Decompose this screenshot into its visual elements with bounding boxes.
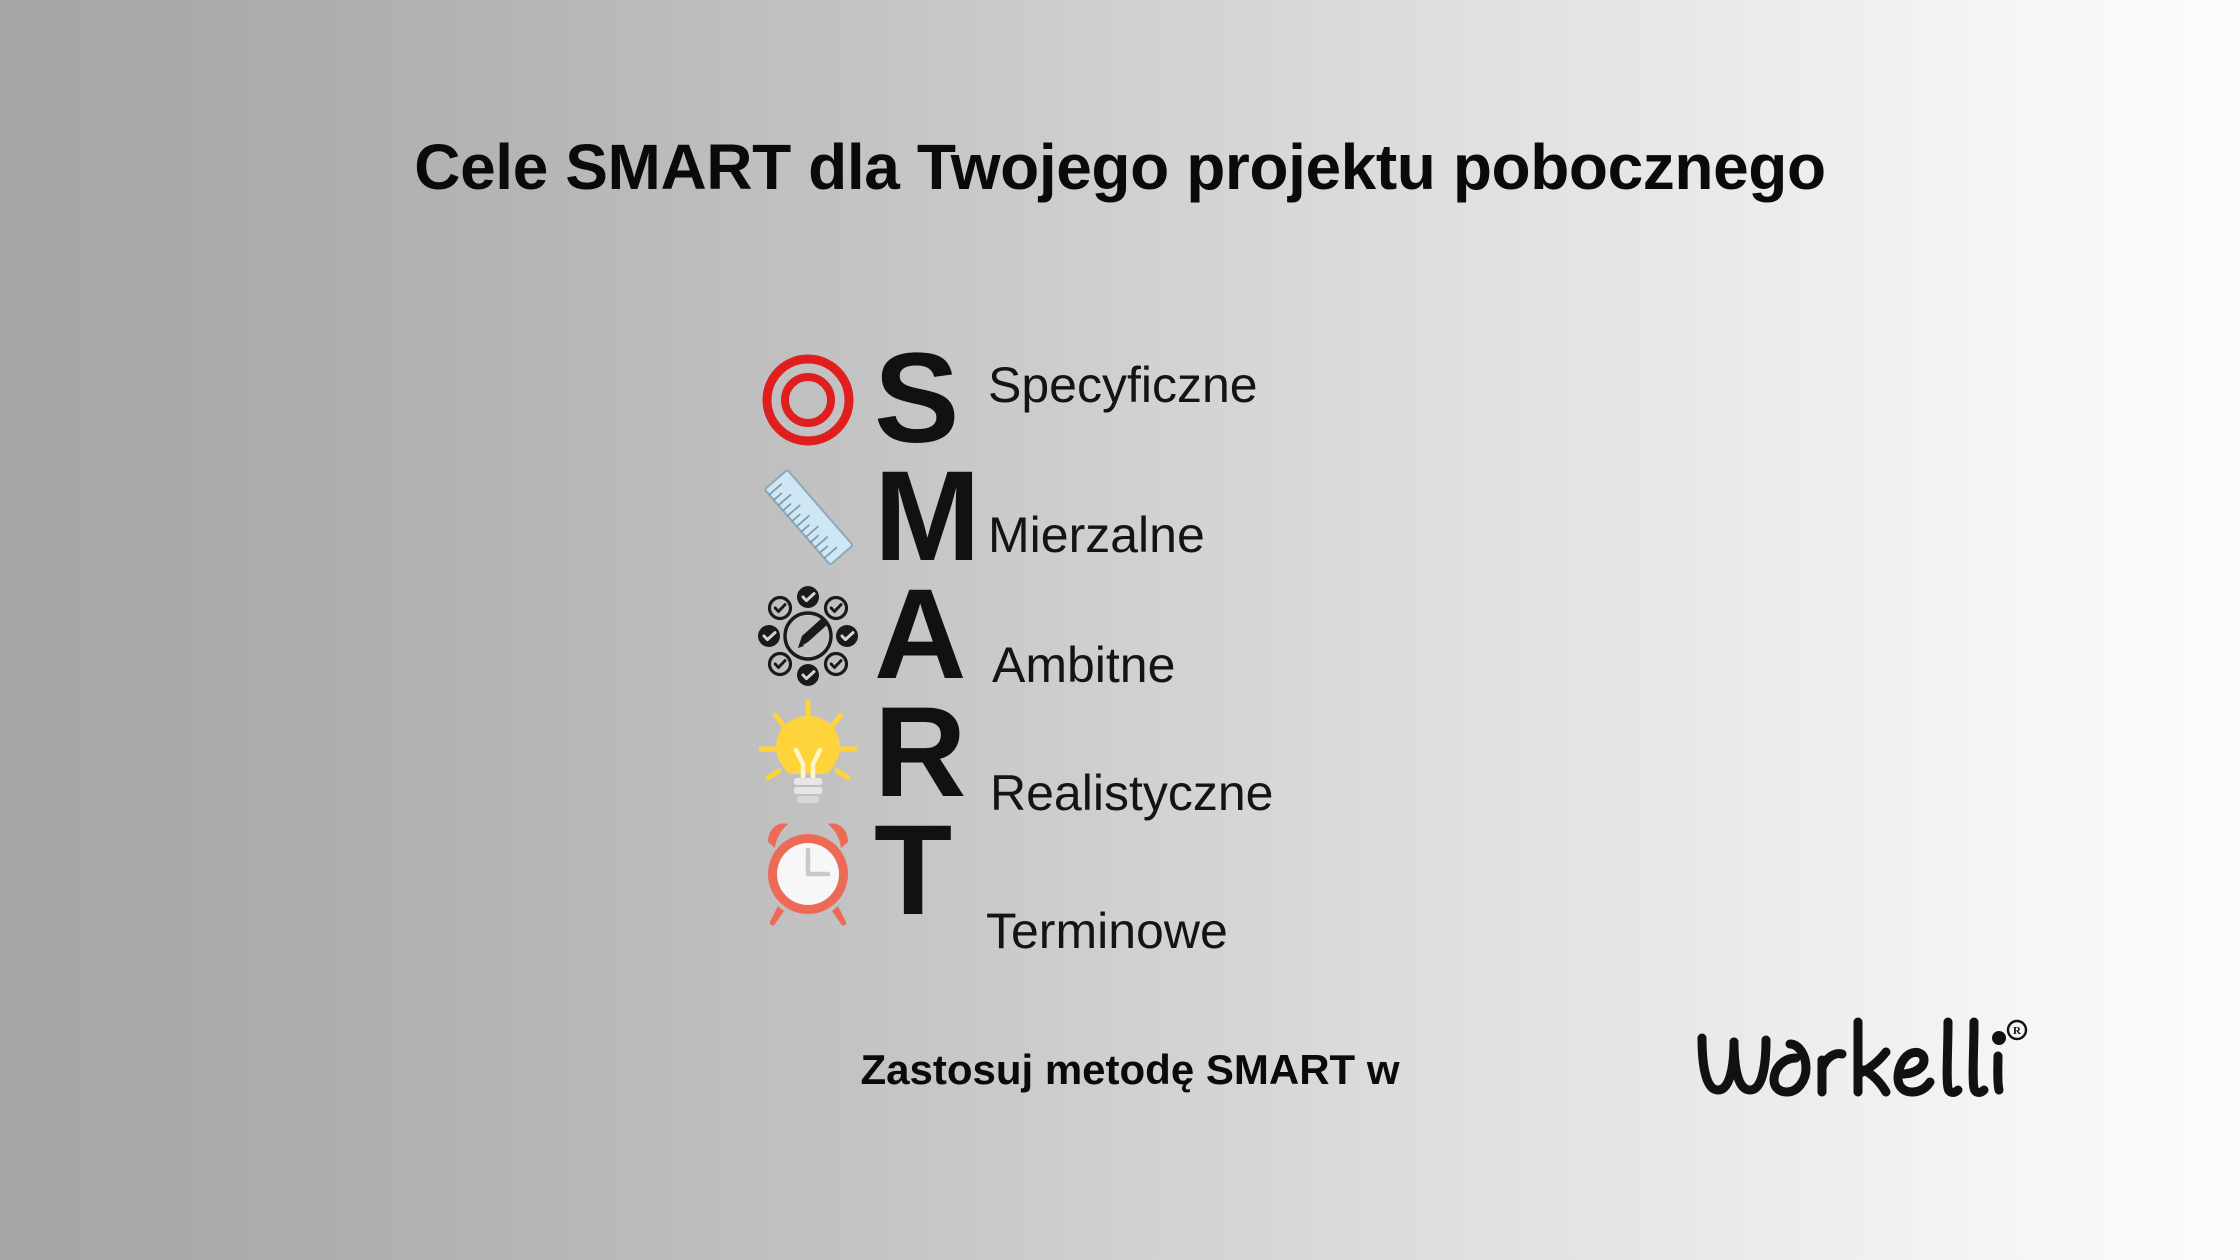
- ruler-icon: [748, 458, 868, 578]
- lightbulb-icon: [748, 694, 868, 814]
- smart-letter-t: T: [874, 796, 984, 946]
- smart-item-r: R Realistyczne: [748, 694, 1508, 814]
- smart-label-mierzalne: Mierzalne: [988, 504, 1205, 566]
- registered-trademark-icon: R: [2008, 1021, 2026, 1039]
- page-title: Cele SMART dla Twojego projektu poboczne…: [0, 132, 2240, 202]
- slide-canvas: Cele SMART dla Twojego projektu poboczne…: [0, 0, 2240, 1260]
- footer-cta-text: Zastosuj metodę SMART w: [820, 1046, 1440, 1094]
- smart-item-s: S Specyficzne: [748, 340, 1508, 460]
- smart-item-m: M Mierzalne: [748, 458, 1508, 578]
- brand-logo-workelli: R: [1692, 1008, 2032, 1120]
- smart-label-terminowe: Terminowe: [986, 900, 1228, 962]
- smart-list: S Specyficzne: [748, 340, 1508, 962]
- smart-label-specyficzne: Specyficzne: [988, 354, 1258, 416]
- alarm-clock-icon: [748, 812, 868, 932]
- svg-text:R: R: [2013, 1025, 2022, 1037]
- smart-label-ambitne: Ambitne: [992, 634, 1175, 696]
- smart-item-t: T Terminowe: [748, 812, 1508, 932]
- target-icon: [748, 340, 868, 460]
- checkmarks-pencil-icon: [748, 576, 868, 696]
- smart-item-a: A Ambitne: [748, 576, 1508, 696]
